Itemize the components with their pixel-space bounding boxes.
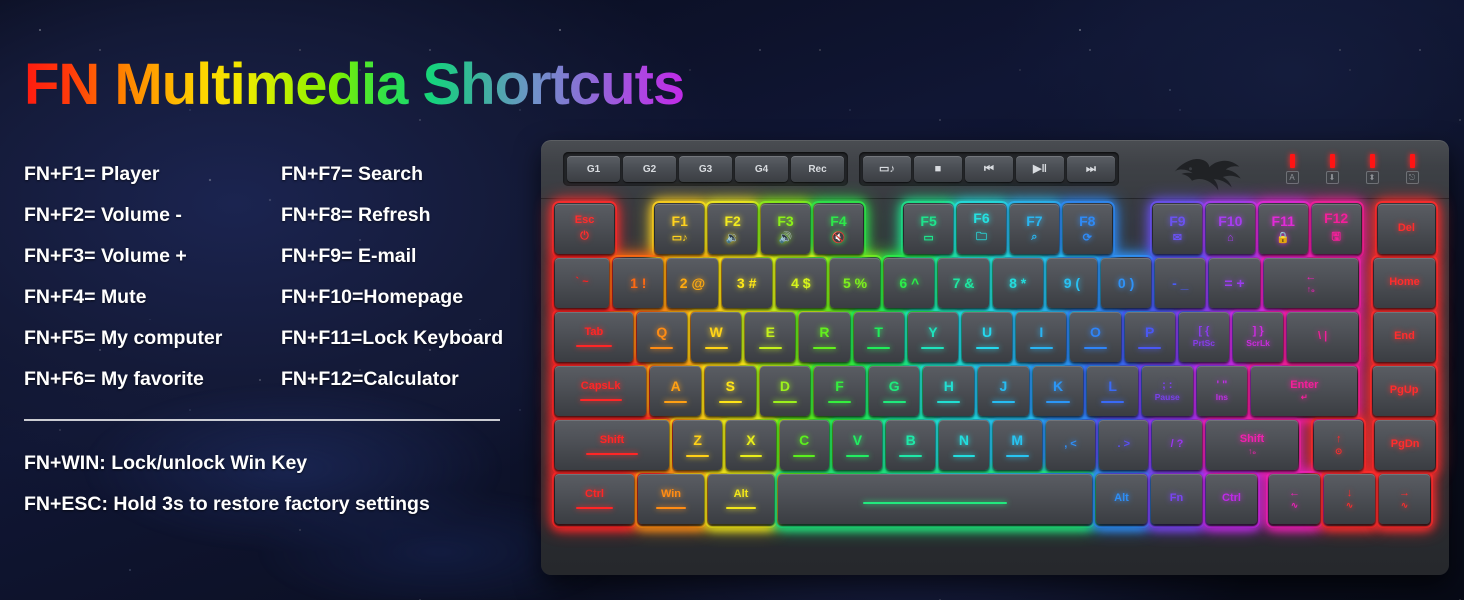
key-legend: Shift bbox=[1240, 434, 1264, 446]
keycap: N bbox=[939, 420, 988, 470]
key-underglow-bar bbox=[726, 507, 756, 509]
key-x[interactable]: X bbox=[726, 420, 775, 470]
key-legend: PgDn bbox=[1391, 439, 1420, 451]
key-space[interactable]: ' "Ins bbox=[1197, 366, 1248, 416]
key-w[interactable]: W bbox=[691, 312, 741, 362]
key-underglow-bar bbox=[686, 455, 709, 457]
keycap: F5▭ bbox=[904, 204, 953, 254]
keycap: / ? bbox=[1152, 420, 1201, 470]
key-f8[interactable]: F8⟳ bbox=[1063, 204, 1112, 254]
key-legend: R bbox=[819, 325, 829, 340]
keycap: X bbox=[726, 420, 775, 470]
key-alt[interactable]: Alt bbox=[708, 474, 774, 524]
bottom-row: CtrlWinAltAltFnCtrl←∿↓∿→∿ bbox=[555, 474, 1435, 524]
key-underglow-bar bbox=[586, 453, 638, 455]
keycap: , < bbox=[1046, 420, 1095, 470]
key-function-glyph: 🔒 bbox=[1276, 231, 1290, 244]
key-f7[interactable]: F7⌕ bbox=[1010, 204, 1059, 254]
media-player-icon[interactable]: ▭♪ bbox=[863, 156, 911, 182]
key-m[interactable]: M bbox=[993, 420, 1042, 470]
keycap: E bbox=[745, 312, 795, 362]
key-legend: F8 bbox=[1079, 214, 1095, 229]
key-pgdn[interactable]: PgDn bbox=[1375, 420, 1435, 470]
key-legend: F5 bbox=[920, 214, 936, 229]
key-underglow-bar bbox=[1046, 401, 1069, 403]
key-underglow-bar bbox=[656, 507, 686, 509]
key-d[interactable]: D bbox=[760, 366, 811, 416]
key-legend: PgUp bbox=[1390, 385, 1419, 397]
key-r[interactable]: R bbox=[799, 312, 849, 362]
keycap: D bbox=[760, 366, 811, 416]
key-f3[interactable]: F3🔊 bbox=[761, 204, 810, 254]
key-legend: F6 bbox=[973, 211, 989, 226]
caps-lock-led-bar bbox=[1290, 154, 1295, 168]
key-ctrl[interactable]: Ctrl bbox=[1206, 474, 1257, 524]
num-lock-led-bar bbox=[1330, 154, 1335, 168]
keycap: Tab bbox=[555, 312, 633, 362]
key-8[interactable]: 8 * bbox=[993, 258, 1043, 308]
keycap: T bbox=[854, 312, 904, 362]
keycap: F8⟳ bbox=[1063, 204, 1112, 254]
key-underglow-bar bbox=[828, 401, 851, 403]
key-legend: F4 bbox=[830, 214, 846, 229]
key-underglow-bar bbox=[976, 347, 999, 349]
key-underglow-bar bbox=[1138, 347, 1161, 349]
redragon-dragon-logo bbox=[1167, 150, 1259, 192]
key-function-glyph: ⟳ bbox=[1083, 231, 1092, 244]
keycap: ' "Ins bbox=[1197, 366, 1248, 416]
macro-button-g4[interactable]: G4 bbox=[735, 156, 788, 182]
key-legend: End bbox=[1394, 331, 1415, 343]
shortcut-list-left: FN+F1= PlayerFN+F2= Volume -FN+F3= Volum… bbox=[24, 154, 222, 400]
key-esc[interactable]: Esc⏻ bbox=[555, 204, 614, 254]
key-legend: F2 bbox=[724, 214, 740, 229]
keycap: Home bbox=[1374, 258, 1435, 308]
shortcut-line-1: FN+F2= Volume - bbox=[24, 195, 222, 236]
keycap: ` ~ bbox=[555, 258, 609, 308]
key-p[interactable]: P bbox=[1125, 312, 1175, 362]
macro-button-rec[interactable]: Rec bbox=[791, 156, 844, 182]
keycap: PgUp bbox=[1373, 366, 1435, 416]
key-legend: ← bbox=[1289, 488, 1300, 500]
shortcut-line-3: FN+F4= Mute bbox=[24, 277, 222, 318]
key-legend: D bbox=[780, 379, 790, 394]
key-space[interactable]: , < bbox=[1046, 420, 1095, 470]
key-space[interactable] bbox=[778, 474, 1092, 524]
key-spacer bbox=[1261, 474, 1265, 524]
key-sublabel: PrtSc bbox=[1193, 339, 1215, 348]
key-legend: Enter bbox=[1290, 380, 1318, 392]
key-z[interactable]: Z bbox=[673, 420, 722, 470]
keycap: . > bbox=[1099, 420, 1148, 470]
keycap: End bbox=[1374, 312, 1435, 362]
next-track-icon[interactable]: ⏭ bbox=[1067, 156, 1115, 182]
key-function-glyph: ▭ bbox=[923, 231, 933, 244]
key-capslk[interactable]: CapsLk bbox=[555, 366, 646, 416]
key-f4[interactable]: F4🔇 bbox=[814, 204, 863, 254]
shortcut-line-5: FN+F12=Calculator bbox=[281, 359, 503, 400]
keycap: Shift bbox=[555, 420, 669, 470]
key-spacer bbox=[1302, 420, 1310, 470]
key-end[interactable]: End bbox=[1374, 312, 1435, 362]
key-underglow-bar bbox=[1006, 455, 1029, 457]
keycap: O bbox=[1070, 312, 1120, 362]
key-legend: ↑ bbox=[1336, 434, 1342, 446]
keycap: F12🖫 bbox=[1312, 204, 1361, 254]
key-legend: H bbox=[944, 379, 954, 394]
key-alt[interactable]: Alt bbox=[1096, 474, 1147, 524]
key-space[interactable]: = + bbox=[1209, 258, 1259, 308]
key-legend: U bbox=[982, 325, 992, 340]
key-underglow-bar bbox=[580, 399, 622, 401]
macro-button-g3[interactable]: G3 bbox=[679, 156, 732, 182]
media-key-group: ▭♪■⏮▶‖⏭ bbox=[859, 152, 1119, 186]
key-legend: ; : bbox=[1162, 380, 1172, 392]
keycap: Shift↑₀ bbox=[1206, 420, 1299, 470]
key-tab[interactable]: Tab bbox=[555, 312, 633, 362]
key-f6[interactable]: F6🗀 bbox=[957, 204, 1006, 254]
key-legend: M bbox=[1011, 433, 1023, 448]
key-function-glyph: ⌂ bbox=[1227, 232, 1234, 244]
shortcut-list-right: FN+F7= SearchFN+F8= RefreshFN+F9= E-mail… bbox=[281, 154, 503, 400]
key-e[interactable]: E bbox=[745, 312, 795, 362]
key-legend: 8 * bbox=[1009, 276, 1026, 291]
key-underglow-bar bbox=[867, 347, 890, 349]
key-legend: 1 ! bbox=[630, 276, 646, 291]
key-shift[interactable]: Shift bbox=[555, 420, 669, 470]
key-spacer bbox=[1362, 258, 1370, 308]
keycap: Win bbox=[638, 474, 704, 524]
shift-row: ShiftZXCVBNM, <. >/ ?Shift↑₀↑⊙PgDn bbox=[555, 420, 1435, 470]
keycap: A bbox=[650, 366, 701, 416]
key-legend: F7 bbox=[1026, 214, 1042, 229]
key-legend: ' " bbox=[1216, 380, 1227, 392]
key-2[interactable]: 2 @ bbox=[667, 258, 717, 308]
key-o[interactable]: O bbox=[1070, 312, 1120, 362]
win-lock-led-bar bbox=[1410, 154, 1415, 168]
win-lock-led-icon: ⎋ bbox=[1406, 171, 1419, 184]
keycap: Enter↵ bbox=[1251, 366, 1357, 416]
key-underglow-bar bbox=[664, 401, 687, 403]
key-legend: ] } bbox=[1253, 326, 1264, 338]
key-function-glyph: ⏻ bbox=[580, 230, 589, 243]
key-legend: F12 bbox=[1324, 211, 1348, 226]
keycap bbox=[778, 474, 1092, 524]
media-player-icon-glyph: ▭♪ bbox=[879, 164, 895, 175]
keycap: F3🔊 bbox=[761, 204, 810, 254]
key-space[interactable]: ←↑₀ bbox=[1264, 258, 1359, 308]
key-space[interactable]: →∿ bbox=[1379, 474, 1430, 524]
macro-button-g2[interactable]: G2 bbox=[623, 156, 676, 182]
key-i[interactable]: I bbox=[1016, 312, 1066, 362]
num-lock-led-icon: ⬇ bbox=[1326, 171, 1339, 184]
key-underglow-bar bbox=[740, 455, 763, 457]
keycap: 9 ( bbox=[1047, 258, 1097, 308]
key-c[interactable]: C bbox=[780, 420, 829, 470]
caps-lock-led: A bbox=[1283, 154, 1301, 184]
key-legend: Alt bbox=[734, 489, 749, 501]
keycap: - _ bbox=[1155, 258, 1205, 308]
key-f11[interactable]: F11🔒 bbox=[1259, 204, 1308, 254]
key-j[interactable]: J bbox=[978, 366, 1029, 416]
key-underglow-bar bbox=[576, 345, 612, 347]
key-sublabel: Pause bbox=[1155, 393, 1180, 402]
keycap: F10⌂ bbox=[1206, 204, 1255, 254]
key-underglow-bar bbox=[1101, 401, 1124, 403]
win-lock-led: ⎋ bbox=[1403, 154, 1421, 184]
key-enter[interactable]: Enter↵ bbox=[1251, 366, 1357, 416]
shortcut-line-0: FN+F1= Player bbox=[24, 154, 222, 195]
note-line-1: FN+ESC: Hold 3s to restore factory setti… bbox=[24, 484, 430, 525]
keycap: Del bbox=[1378, 204, 1435, 254]
key-f9[interactable]: F9✉ bbox=[1153, 204, 1202, 254]
keycap: F bbox=[814, 366, 865, 416]
key-legend: Fn bbox=[1170, 493, 1183, 505]
key-shift[interactable]: Shift↑₀ bbox=[1206, 420, 1299, 470]
key-function-glyph: ⌕ bbox=[1031, 231, 1037, 244]
key-sublabel: ↑₀ bbox=[1307, 285, 1315, 294]
key-legend: S bbox=[726, 379, 735, 394]
keycap: J bbox=[978, 366, 1029, 416]
key-spacer bbox=[867, 204, 900, 254]
keycap: S bbox=[705, 366, 756, 416]
key-space[interactable]: / ? bbox=[1152, 420, 1201, 470]
key-sublabel: Ins bbox=[1216, 393, 1228, 402]
keyboard-divider bbox=[541, 198, 1449, 200]
key-del[interactable]: Del bbox=[1378, 204, 1435, 254]
key-spacer bbox=[618, 204, 651, 254]
stop-icon[interactable]: ■ bbox=[914, 156, 962, 182]
key-home[interactable]: Home bbox=[1374, 258, 1435, 308]
next-track-icon-glyph: ⏭ bbox=[1086, 164, 1096, 175]
num-lock-led: ⬇ bbox=[1323, 154, 1341, 184]
key-legend: V bbox=[853, 433, 862, 448]
keycap: ↑⊙ bbox=[1314, 420, 1363, 470]
key-underglow-bar bbox=[1084, 347, 1107, 349]
note-line-0: FN+WIN: Lock/unlock Win Key bbox=[24, 443, 430, 484]
key-space[interactable]: ` ~ bbox=[555, 258, 609, 308]
shortcut-line-2: FN+F9= E-mail bbox=[281, 236, 503, 277]
key-legend: 0 ) bbox=[1118, 276, 1134, 291]
keycap: = + bbox=[1209, 258, 1259, 308]
key-f5[interactable]: F5▭ bbox=[904, 204, 953, 254]
key-9[interactable]: 9 ( bbox=[1047, 258, 1097, 308]
key-space[interactable]: ; :Pause bbox=[1142, 366, 1193, 416]
keycap: →∿ bbox=[1379, 474, 1430, 524]
key-legend: \ | bbox=[1318, 331, 1327, 343]
keycap: Q bbox=[637, 312, 687, 362]
key-legend: F1 bbox=[672, 214, 688, 229]
key-win[interactable]: Win bbox=[638, 474, 704, 524]
key-underglow-bar bbox=[992, 401, 1015, 403]
key-sublabel: ScrLk bbox=[1246, 339, 1270, 348]
key-s[interactable]: S bbox=[705, 366, 756, 416]
keycap: CapsLk bbox=[555, 366, 646, 416]
key-function-glyph: 🖫 bbox=[1331, 228, 1340, 247]
key-h[interactable]: H bbox=[923, 366, 974, 416]
key-legend: = + bbox=[1224, 276, 1244, 291]
play-pause-icon-glyph: ▶‖ bbox=[1033, 164, 1047, 175]
key-legend: 4 $ bbox=[791, 276, 810, 291]
shortcut-line-4: FN+F5= My computer bbox=[24, 318, 222, 359]
key-3[interactable]: 3 # bbox=[722, 258, 772, 308]
key-legend: . > bbox=[1117, 439, 1130, 451]
key-legend: G bbox=[889, 379, 900, 394]
key-legend: 5 % bbox=[843, 276, 867, 291]
keycap: F2🔉 bbox=[708, 204, 757, 254]
key-k[interactable]: K bbox=[1033, 366, 1084, 416]
key-f[interactable]: F bbox=[814, 366, 865, 416]
key-space[interactable]: [ {PrtSc bbox=[1179, 312, 1229, 362]
key-legend: CapsLk bbox=[581, 381, 621, 393]
shortcut-notes: FN+WIN: Lock/unlock Win KeyFN+ESC: Hold … bbox=[24, 443, 430, 525]
key-underglow-bar bbox=[846, 455, 869, 457]
key-legend: ↓ bbox=[1347, 488, 1353, 500]
key-legend: B bbox=[906, 433, 916, 448]
key-legend: T bbox=[874, 325, 883, 340]
key-7[interactable]: 7 & bbox=[938, 258, 988, 308]
key-space[interactable]: ↑⊙ bbox=[1314, 420, 1363, 470]
key-legend: E bbox=[766, 325, 775, 340]
keycap: U bbox=[962, 312, 1012, 362]
key-legend: F3 bbox=[777, 214, 793, 229]
key-legend: F bbox=[835, 379, 844, 394]
shortcut-line-2: FN+F3= Volume + bbox=[24, 236, 222, 277]
keycap: 8 * bbox=[993, 258, 1043, 308]
key-legend: P bbox=[1145, 325, 1154, 340]
key-function-glyph: 🗀 bbox=[976, 228, 987, 247]
keycap: Ctrl bbox=[1206, 474, 1257, 524]
home-row: CapsLkASDFGHJKL; :Pause' "InsEnter↵PgUp bbox=[555, 366, 1435, 416]
key-legend: X bbox=[746, 433, 755, 448]
key-spacer bbox=[1365, 204, 1374, 254]
key-legend: L bbox=[1108, 379, 1117, 394]
key-underglow-bar bbox=[899, 455, 922, 457]
keycap: ] }ScrLk bbox=[1233, 312, 1283, 362]
key-q[interactable]: Q bbox=[637, 312, 687, 362]
key-t[interactable]: T bbox=[854, 312, 904, 362]
key-legend: Del bbox=[1398, 223, 1415, 235]
key-v[interactable]: V bbox=[833, 420, 882, 470]
key-f12[interactable]: F12🖫 bbox=[1312, 204, 1361, 254]
key-pgup[interactable]: PgUp bbox=[1373, 366, 1435, 416]
key-underglow-bar bbox=[953, 455, 976, 457]
macro-button-g1[interactable]: G1 bbox=[567, 156, 620, 182]
key-f1[interactable]: F1▭♪ bbox=[655, 204, 704, 254]
key-legend: - _ bbox=[1172, 276, 1188, 291]
key-underglow-bar bbox=[863, 502, 1007, 504]
key-space[interactable]: - _ bbox=[1155, 258, 1205, 308]
key-f10[interactable]: F10⌂ bbox=[1206, 204, 1255, 254]
key-underglow-bar bbox=[759, 347, 782, 349]
key-6[interactable]: 6 ^ bbox=[884, 258, 934, 308]
keycap: ←↑₀ bbox=[1264, 258, 1359, 308]
keycap: G bbox=[869, 366, 920, 416]
previous-track-icon[interactable]: ⏮ bbox=[965, 156, 1013, 182]
keycap: L bbox=[1087, 366, 1138, 416]
key-legend: ← bbox=[1305, 272, 1316, 284]
key-legend: K bbox=[1053, 379, 1063, 394]
shortcut-line-1: FN+F8= Refresh bbox=[281, 195, 503, 236]
keycap: Alt bbox=[1096, 474, 1147, 524]
section-divider bbox=[24, 419, 500, 421]
key-0[interactable]: 0 ) bbox=[1101, 258, 1151, 308]
keycap: Esc⏻ bbox=[555, 204, 614, 254]
keycap: 6 ^ bbox=[884, 258, 934, 308]
play-pause-icon[interactable]: ▶‖ bbox=[1016, 156, 1064, 182]
key-sublabel: ∿ bbox=[1346, 501, 1353, 510]
key-sublabel: ⊙ bbox=[1335, 447, 1342, 456]
keycap: ←∿ bbox=[1269, 474, 1320, 524]
keycap: F7⌕ bbox=[1010, 204, 1059, 254]
qwerty-row: TabQWERTYUIOP[ {PrtSc] }ScrLk\ |End bbox=[555, 312, 1435, 362]
function-row: Esc⏻F1▭♪F2🔉F3🔊F4🔇F5▭F6🗀F7⌕F8⟳F9✉F10⌂F11🔒… bbox=[555, 204, 1435, 254]
keycap: M bbox=[993, 420, 1042, 470]
key-legend: W bbox=[709, 325, 722, 340]
shortcut-line-3: FN+F10=Homepage bbox=[281, 277, 503, 318]
key-function-glyph: ✉ bbox=[1173, 231, 1182, 244]
stop-icon-glyph: ■ bbox=[935, 164, 942, 175]
key-g[interactable]: G bbox=[869, 366, 920, 416]
keycap: 1 ! bbox=[613, 258, 663, 308]
keycap: F4🔇 bbox=[814, 204, 863, 254]
keycap: 5 % bbox=[830, 258, 880, 308]
key-space[interactable]: \ | bbox=[1287, 312, 1358, 362]
keycap: ; :Pause bbox=[1142, 366, 1193, 416]
key-4[interactable]: 4 $ bbox=[776, 258, 826, 308]
key-legend: 3 # bbox=[737, 276, 756, 291]
keycap: 3 # bbox=[722, 258, 772, 308]
key-5[interactable]: 5 % bbox=[830, 258, 880, 308]
key-legend: Z bbox=[693, 433, 702, 448]
key-ctrl[interactable]: Ctrl bbox=[555, 474, 634, 524]
key-underglow-bar bbox=[773, 401, 796, 403]
key-legend: N bbox=[959, 433, 969, 448]
key-space[interactable]: ] }ScrLk bbox=[1233, 312, 1283, 362]
key-function-glyph: 🔉 bbox=[726, 231, 740, 244]
previous-track-icon-glyph: ⏮ bbox=[984, 164, 994, 175]
key-underglow-bar bbox=[650, 347, 673, 349]
keycap: [ {PrtSc bbox=[1179, 312, 1229, 362]
key-fn[interactable]: Fn bbox=[1151, 474, 1202, 524]
key-legend: Alt bbox=[1114, 493, 1129, 505]
key-legend: [ { bbox=[1198, 326, 1209, 338]
key-legend: Win bbox=[661, 489, 681, 501]
keycap: ↓∿ bbox=[1324, 474, 1375, 524]
key-matrix: Esc⏻F1▭♪F2🔉F3🔊F4🔇F5▭F6🗀F7⌕F8⟳F9✉F10⌂F11🔒… bbox=[555, 204, 1435, 528]
key-underglow-bar bbox=[705, 347, 728, 349]
key-u[interactable]: U bbox=[962, 312, 1012, 362]
key-legend: Y bbox=[928, 325, 937, 340]
key-f2[interactable]: F2🔉 bbox=[708, 204, 757, 254]
key-space[interactable]: ↓∿ bbox=[1324, 474, 1375, 524]
key-space[interactable]: ←∿ bbox=[1269, 474, 1320, 524]
key-sublabel: ∿ bbox=[1401, 501, 1408, 510]
key-underglow-bar bbox=[793, 455, 816, 457]
key-b[interactable]: B bbox=[886, 420, 935, 470]
key-1[interactable]: 1 ! bbox=[613, 258, 663, 308]
key-n[interactable]: N bbox=[939, 420, 988, 470]
key-space[interactable]: . > bbox=[1099, 420, 1148, 470]
key-l[interactable]: L bbox=[1087, 366, 1138, 416]
key-legend: Shift bbox=[600, 435, 624, 447]
keycap: F1▭♪ bbox=[655, 204, 704, 254]
key-legend: Ctrl bbox=[585, 489, 604, 501]
macro-key-group: G1G2G3G4Rec bbox=[563, 152, 848, 186]
keycap: F11🔒 bbox=[1259, 204, 1308, 254]
key-y[interactable]: Y bbox=[908, 312, 958, 362]
key-a[interactable]: A bbox=[650, 366, 701, 416]
